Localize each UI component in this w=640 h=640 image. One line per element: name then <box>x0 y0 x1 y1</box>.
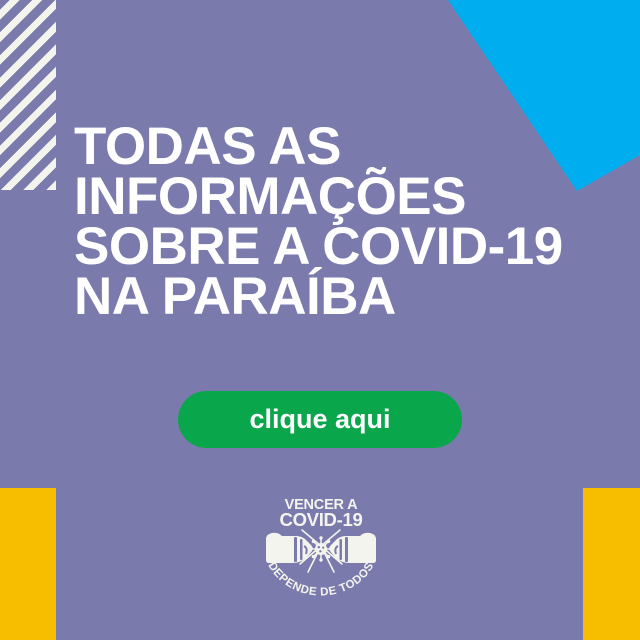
clique-aqui-button[interactable]: clique aqui <box>178 391 462 448</box>
headline-line-4: NA PARAÍBA <box>74 272 614 322</box>
campaign-logo: VENCER A COVID-19 <box>258 494 384 598</box>
virus-particle-icon <box>308 536 333 561</box>
logo-arc-text: DEPENDE DE TODOS <box>265 560 376 598</box>
campaign-logo-graphic: VENCER A COVID-19 <box>258 494 384 598</box>
page-title: TODAS AS INFORMAÇÕES SOBRE A COVID-19 NA… <box>74 122 614 322</box>
covid-info-poster: TODAS AS INFORMAÇÕES SOBRE A COVID-19 NA… <box>0 0 640 640</box>
diagonal-stripes-decoration <box>0 0 56 190</box>
logo-line-2: COVID-19 <box>280 509 363 530</box>
yellow-block-left-decoration <box>0 488 56 640</box>
headline-line-3: SOBRE A COVID-19 <box>74 222 614 272</box>
yellow-block-right-decoration <box>583 488 640 640</box>
headline-line-2: INFORMAÇÕES <box>74 172 614 222</box>
headline-line-1: TODAS AS <box>74 122 614 172</box>
